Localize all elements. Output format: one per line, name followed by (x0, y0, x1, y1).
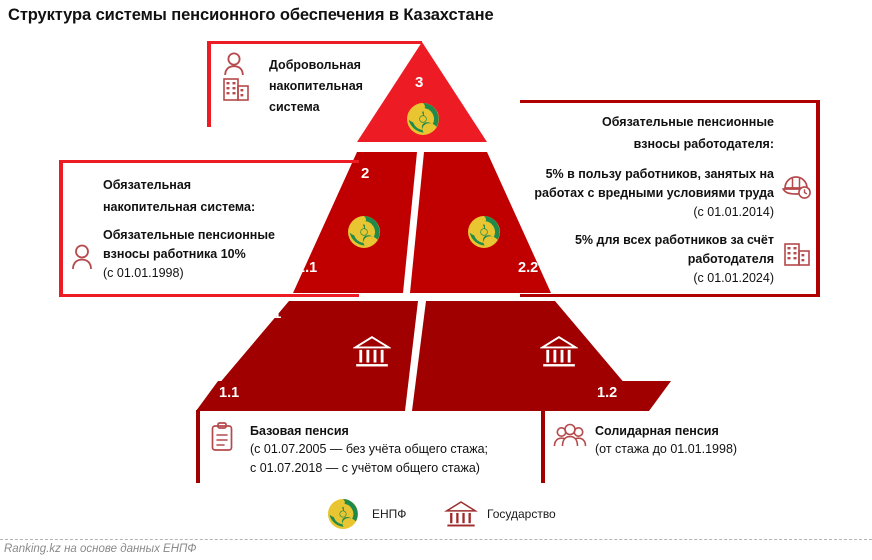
mandatory-accumulative-body: Обязательные пенсионные взносы работника… (103, 226, 275, 283)
voluntary-line-2: накопительная (269, 76, 363, 97)
legend-bank-icon (444, 500, 478, 535)
bottom-right-tab-label: 1.2 (597, 385, 617, 401)
bottom-left-tab-label: 1.1 (219, 385, 239, 401)
tier-2-number: 2 (361, 166, 369, 181)
solidarity-pension-title: Солидарная пенсия (595, 422, 737, 440)
people-group-icon (553, 423, 587, 451)
employer-b1-line-3: (с 01.01.2014) (534, 203, 774, 222)
mandatory-head-line-1: Обязательная (103, 174, 255, 196)
panel-voluntary-system: Добровольная накопительная система (207, 41, 422, 127)
solidarity-pension-line-1: (от стажа до 01.01.1998) (595, 440, 737, 459)
mandatory-body-line-3: (с 01.01.1998) (103, 264, 275, 283)
panel-employer-contributions: Обязательные пенсионные взносы работодат… (520, 100, 820, 297)
footer-source: Ranking.kz на основе данных ЕНПФ (4, 543, 196, 555)
panel-solidarity-pension: Солидарная пенсия (от стажа до 01.01.199… (541, 410, 821, 483)
panel-basic-pension: Базовая пенсия (с 01.07.2005 — без учёта… (196, 410, 526, 483)
mandatory-accumulative-heading: Обязательная накопительная система: (103, 174, 255, 218)
clipboard-icon (210, 422, 234, 452)
employer-head-line-2: взносы работодателя: (602, 133, 774, 155)
basic-pension-line-2: с 01.07.2018 — с учётом общего стажа) (250, 459, 488, 478)
voluntary-line-1: Добровольная (269, 55, 363, 76)
person-icon (71, 244, 93, 270)
hard-hat-icon (782, 171, 812, 199)
bank-icon (540, 335, 578, 376)
employer-b2-line-2: работодателя (575, 250, 774, 269)
basic-pension-line-1: (с 01.07.2005 — без учёта общего стажа; (250, 440, 488, 459)
solidarity-pension-text: Солидарная пенсия (от стажа до 01.01.199… (595, 422, 737, 459)
employer-heading: Обязательные пенсионные взносы работодат… (602, 111, 774, 155)
mandatory-head-line-2: накопительная система: (103, 196, 255, 218)
tier-1-number: 1 (273, 306, 281, 321)
building-icon (784, 242, 810, 266)
basic-pension-title: Базовая пенсия (250, 422, 488, 440)
employer-block-1: 5% в пользу работников, занятых на работ… (534, 165, 774, 222)
bank-icon (353, 335, 391, 376)
employer-block-2: 5% для всех работников за счёт работодат… (575, 231, 774, 288)
employer-b2-line-3: (с 01.01.2024) (575, 269, 774, 288)
footer-divider (0, 539, 872, 540)
infographic-canvas: Структура системы пенсионного обеспечени… (0, 0, 872, 560)
page-title: Структура системы пенсионного обеспечени… (8, 6, 494, 25)
employer-head-line-1: Обязательные пенсионные (602, 111, 774, 133)
basic-pension-text: Базовая пенсия (с 01.07.2005 — без учёта… (250, 422, 488, 478)
mandatory-body-line-2: взносы работника 10% (103, 245, 275, 264)
legend-label-state: Государство (487, 507, 556, 521)
person-icon (223, 52, 245, 76)
legend: ЕНПФ Государство (0, 498, 872, 532)
employer-b1-line-2: работах с вредными условиями труда (534, 184, 774, 203)
enpf-logo-icon (467, 215, 501, 249)
legend-enpf-icon (327, 498, 359, 535)
panel-mandatory-accumulative: Обязательная накопительная система: Обяз… (59, 160, 359, 297)
employer-b1-line-1: 5% в пользу работников, занятых на (534, 165, 774, 184)
employer-b2-line-1: 5% для всех работников за счёт (575, 231, 774, 250)
voluntary-line-3: система (269, 97, 363, 118)
voluntary-system-text: Добровольная накопительная система (269, 55, 363, 118)
building-icon (223, 77, 249, 101)
legend-label-enpf: ЕНПФ (372, 507, 406, 521)
mandatory-body-line-1: Обязательные пенсионные (103, 226, 275, 245)
bottom-left-tab (196, 381, 342, 411)
